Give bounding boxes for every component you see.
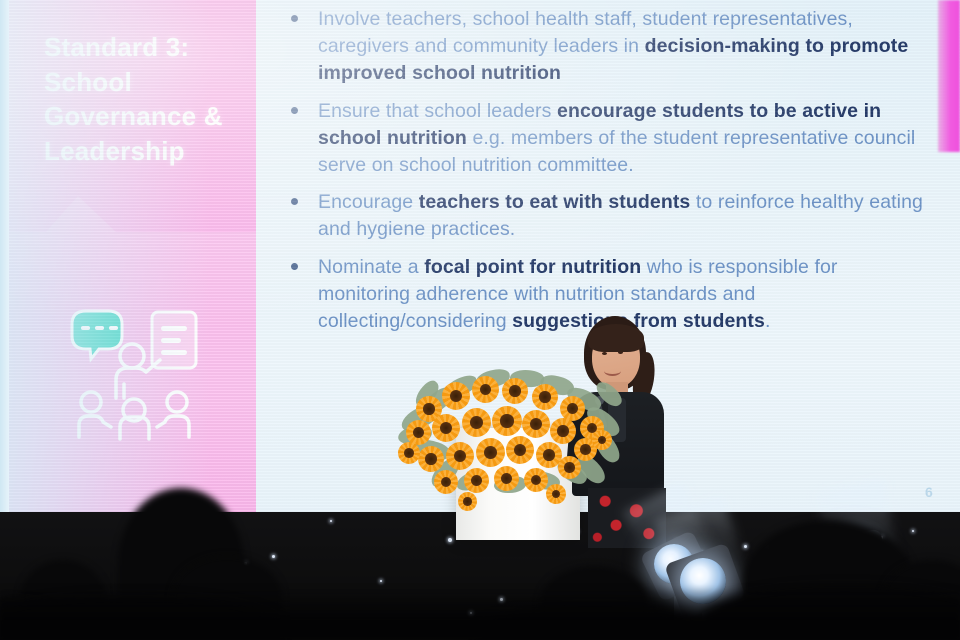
slide-bullet: Encourage teachers to eat with students … <box>280 189 930 243</box>
sunflower-center <box>471 475 482 486</box>
sunflower-bloom <box>532 384 558 410</box>
sunflower-bloom <box>398 442 420 464</box>
bullet-dot-icon <box>291 198 298 205</box>
slide-page-number: 6 <box>925 484 933 500</box>
sunflower-center <box>564 462 574 472</box>
bullet-text: Nominate a <box>318 256 424 278</box>
sunflower-arrangement <box>398 368 618 500</box>
sunflower-bloom <box>492 406 522 436</box>
presenter-with-audience-icon <box>64 302 204 442</box>
sunflower-center <box>423 403 434 414</box>
panel-peak-shape <box>44 196 118 234</box>
sunflower-center <box>470 416 483 429</box>
bullet-text: Ensure that school leaders <box>318 100 557 122</box>
sunflower-bloom <box>506 436 534 464</box>
sunflower-center <box>404 448 414 458</box>
bullet-dot-icon <box>291 263 298 270</box>
speaker-hair-front <box>588 324 644 352</box>
screen-right-color-strip <box>938 0 960 152</box>
bullet-dot-icon <box>291 15 298 22</box>
sunflower-bloom <box>472 376 499 403</box>
sunflower-center <box>567 403 578 414</box>
foreground-vignette <box>0 586 960 640</box>
slide-bullet: Involve teachers, school health staff, s… <box>280 6 930 87</box>
bullet-text: . <box>765 310 771 332</box>
bullet-dot-icon <box>291 107 298 114</box>
slide-bullet-list: Involve teachers, school health staff, s… <box>280 6 930 346</box>
backdrop-star <box>448 538 452 542</box>
screenshot-stage: Standard 3: School Governance & Leadersh… <box>0 0 960 640</box>
sunflower-bloom <box>432 414 460 442</box>
sunflower-bloom <box>458 492 477 511</box>
sunflower-center <box>580 444 590 454</box>
sunflower-bloom <box>434 470 458 494</box>
sunflower-bloom <box>502 378 528 404</box>
backdrop-star <box>380 580 382 582</box>
bullet-emphasis-text: focal point for nutrition <box>424 256 641 278</box>
sunflower-bloom <box>418 446 444 472</box>
backdrop-star <box>330 520 332 522</box>
sunflower-center <box>463 497 471 505</box>
sunflower-center <box>425 453 436 464</box>
sunflower-bloom <box>550 418 576 444</box>
sunflower-bloom <box>494 466 519 491</box>
sunflower-bloom <box>464 468 489 493</box>
sunflower-bloom <box>442 382 470 410</box>
backdrop-star <box>272 555 275 558</box>
sunflower-center <box>413 427 424 438</box>
sunflower-bloom <box>446 442 474 470</box>
sunflower-center <box>543 449 554 460</box>
sunflower-bloom <box>546 484 566 504</box>
sunflower-center <box>539 391 550 402</box>
sunflower-bloom <box>476 438 505 467</box>
slide-bullet: Ensure that school leaders encourage stu… <box>280 98 930 179</box>
speaker-eye-left <box>602 352 607 355</box>
slide-panel-title: Standard 3: School Governance & Leadersh… <box>44 30 249 168</box>
backdrop-star <box>912 530 914 532</box>
sunflower-bloom <box>592 430 612 450</box>
sunflower-bloom <box>524 468 548 492</box>
bullet-emphasis-text: teachers to eat with students <box>419 191 691 213</box>
sunflower-center <box>484 446 497 459</box>
speaker-eye-right <box>618 351 623 354</box>
sunflower-center <box>500 414 513 427</box>
bullet-text: Encourage <box>318 191 419 213</box>
sunflower-bloom <box>522 410 550 438</box>
sunflower-center <box>557 425 568 436</box>
sunflower-center <box>509 385 520 396</box>
screen-left-edge <box>0 0 9 512</box>
sunflower-bloom <box>462 408 491 437</box>
sunflower-center <box>501 473 512 484</box>
sunflower-bloom <box>558 456 581 479</box>
